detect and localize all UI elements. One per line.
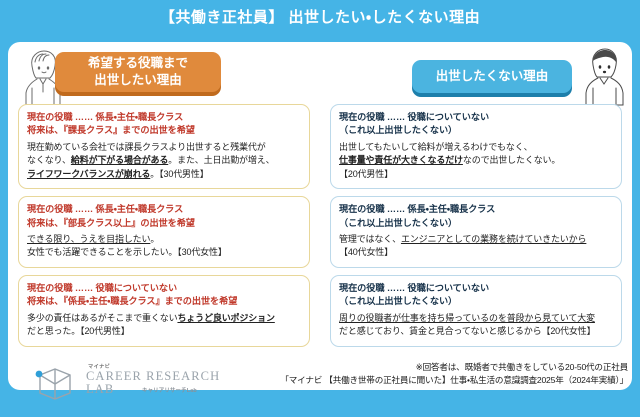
card-head: 現在の役職 …… 係長・主任・職長クラス 将来は、『課長クラス』までの出世を希望 bbox=[27, 111, 301, 138]
footer: マイナビ CAREER RESEARCH LAB キャリアリサーチLab ※回答… bbox=[8, 358, 632, 398]
card-head: 現在の役職 …… 係長・主任・職長クラス （これ以上出世したくない） bbox=[339, 203, 613, 230]
card-body: 管理ではなく、エンジニアとしての業務を続けていきたいから 【40代女性】 bbox=[339, 233, 613, 260]
badge-no-promotion: 出世したくない理由 bbox=[412, 60, 572, 93]
man-illustration bbox=[580, 46, 628, 106]
card-body: 周りの役職者が仕事を持ち帰っているのを普段から見ていて大変 だと感じており、賃金… bbox=[339, 312, 613, 339]
testimonial-card: 現在の役職 …… 係長・主任・職長クラス （これ以上出世したくない） 管理ではな… bbox=[330, 196, 622, 268]
testimonial-card: 現在の役職 …… 係長・主任・職長クラス 将来は、『部長クラス以上』の出世を希望… bbox=[18, 196, 310, 268]
survey-source: 「マイナビ 【共働き世帯の正社員に聞いた】仕事・私生活の意識調査2025年（20… bbox=[208, 374, 628, 387]
card-body: 現在勤めている会社では課長クラスより出世すると残業代が なくなり、給料が下がる場… bbox=[27, 141, 301, 182]
logo-sub: キャリアリサーチLab bbox=[142, 386, 197, 394]
mynavi-career-research-lab-logo: マイナビ CAREER RESEARCH LAB キャリアリサーチLab bbox=[30, 364, 230, 398]
testimonial-card: 現在の役職 …… 役職についていない （これ以上出世したくない） 周りの役職者が… bbox=[330, 275, 622, 347]
source-note: ※回答者は、既婚者で共働きをしている20-50代の正社員 「マイナビ 【共働き世… bbox=[208, 361, 628, 388]
testimonial-card: 現在の役職 …… 係長・主任・職長クラス 将来は、『課長クラス』までの出世を希望… bbox=[18, 104, 310, 189]
column-no-promotion: 現在の役職 …… 役職についていない （これ以上出世したくない） 出世してもたい… bbox=[330, 104, 622, 354]
respondent-note: ※回答者は、既婚者で共働きをしている20-50代の正社員 bbox=[208, 361, 628, 374]
badge-left-line2: 出世したい理由 bbox=[94, 72, 182, 89]
page-title: 【共働き正社員】 出世したい・したくない理由 bbox=[0, 6, 640, 27]
column-want-promotion: 現在の役職 …… 係長・主任・職長クラス 将来は、『課長クラス』までの出世を希望… bbox=[18, 104, 310, 354]
badge-want-promotion: 希望する役職まで 出世したい理由 bbox=[55, 52, 221, 92]
testimonial-card: 現在の役職 …… 役職についていない 将来は、『係長・主任・職長クラス』までの出… bbox=[18, 275, 310, 347]
testimonial-card: 現在の役職 …… 役職についていない （これ以上出世したくない） 出世してもたい… bbox=[330, 104, 622, 189]
card-body: できる限り、うえを目指したい。 女性でも活躍できることを示したい。【30代女性】 bbox=[27, 233, 301, 260]
card-head: 現在の役職 …… 係長・主任・職長クラス 将来は、『部長クラス以上』の出世を希望 bbox=[27, 203, 301, 230]
card-head: 現在の役職 …… 役職についていない （これ以上出世したくない） bbox=[339, 111, 613, 138]
badge-right-line1: 出世したくない理由 bbox=[436, 68, 549, 85]
card-body: 出世してもたいして給料が増えるわけでもなく、 仕事量や責任が大きくなるだけなので… bbox=[339, 141, 613, 182]
badge-left-line1: 希望する役職まで bbox=[88, 55, 188, 72]
infographic-root: 【共働き正社員】 出世したい・したくない理由 bbox=[0, 0, 640, 417]
card-head: 現在の役職 …… 役職についていない 将来は、『係長・主任・職長クラス』までの出… bbox=[27, 282, 301, 309]
card-head: 現在の役職 …… 役職についていない （これ以上出世したくない） bbox=[339, 282, 613, 309]
card-body: 多少の責任はあるがそこまで重くないちょうど良いポジション だと思った。【20代男… bbox=[27, 312, 301, 339]
